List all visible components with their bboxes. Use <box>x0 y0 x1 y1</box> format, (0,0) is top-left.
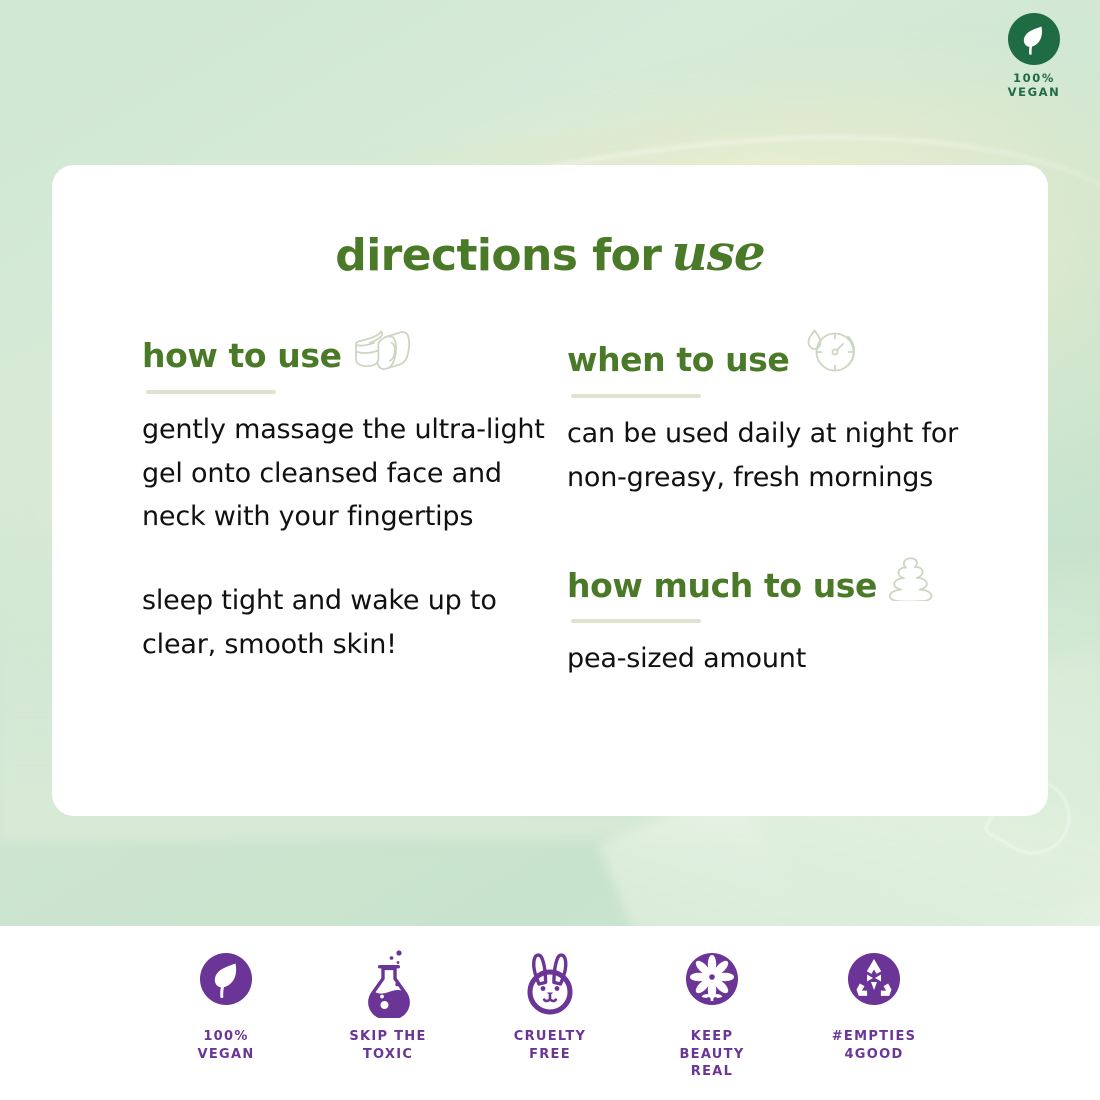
badge-vegan: 100% VEGAN <box>145 926 307 1063</box>
badge-keep-beauty-real: KEEP BEAUTY REAL <box>631 926 793 1081</box>
section-heading-when-to-use: when to use <box>567 343 789 378</box>
top-vegan-stamp: 100% VEGAN <box>986 12 1082 99</box>
flower-icon <box>631 948 793 1020</box>
section-heading-row: how to use <box>142 326 567 374</box>
certification-badge-strip: 100% VEGAN SKIP THE TOXIC <box>0 926 1100 1100</box>
section-heading-row: how much to use <box>567 555 1007 603</box>
paragraph-spacer <box>142 539 567 579</box>
directions-card: directions foruse how to use <box>52 165 1048 816</box>
section-divider <box>571 394 701 398</box>
section-when-to-use: when to use <box>567 326 1007 499</box>
section-how-much-to-use: how much to use pea-sized amount <box>567 555 1007 681</box>
section-divider <box>146 390 276 394</box>
section-heading-how-to-use: how to use <box>142 339 342 374</box>
bunny-icon <box>469 948 631 1020</box>
badge-skip-toxic: SKIP THE TOXIC <box>307 926 469 1063</box>
section-heading-how-much-to-use: how much to use <box>567 569 877 604</box>
cream-jar-icon <box>350 326 412 372</box>
column-left: how to use <box>142 326 567 681</box>
section-divider <box>571 619 701 623</box>
badge-empties-4good-label: #EMPTIES 4GOOD <box>793 1028 955 1063</box>
leaf-in-circle-icon <box>145 948 307 1020</box>
column-right: when to use <box>567 326 1007 681</box>
recycle-icon <box>793 948 955 1020</box>
badge-vegan-label: 100% VEGAN <box>145 1028 307 1063</box>
flask-icon <box>307 948 469 1020</box>
leaf-in-circle-icon <box>986 12 1082 66</box>
badge-empties-4good: #EMPTIES 4GOOD <box>793 926 955 1063</box>
section-heading-row: when to use <box>567 326 1007 378</box>
page-title-script: use <box>671 223 764 282</box>
section-body-how-much-to-use: pea-sized amount <box>567 637 1007 681</box>
badge-cruelty-free-label: CRUELTY FREE <box>469 1028 631 1063</box>
badge-keep-beauty-real-label: KEEP BEAUTY REAL <box>631 1028 793 1081</box>
badge-skip-toxic-label: SKIP THE TOXIC <box>307 1028 469 1063</box>
page-title: directions foruse <box>52 165 1048 282</box>
section-body-when-to-use: can be used daily at night for non-greas… <box>567 412 1007 499</box>
infographic-poster: 100% VEGAN directions foruse how to use <box>0 0 1100 1100</box>
top-vegan-stamp-label: 100% VEGAN <box>986 71 1082 99</box>
droplet-clock-icon <box>797 326 863 376</box>
page-title-main: directions for <box>335 230 661 281</box>
content-columns: how to use <box>52 282 1048 681</box>
section-how-to-use: how to use <box>142 326 567 667</box>
section-body-how-to-use: gently massage the ultra-light gel onto … <box>142 408 567 539</box>
cream-dollop-icon <box>885 555 941 601</box>
badge-cruelty-free: CRUELTY FREE <box>469 926 631 1063</box>
section-body-how-to-use-2: sleep tight and wake up to clear, smooth… <box>142 579 567 666</box>
